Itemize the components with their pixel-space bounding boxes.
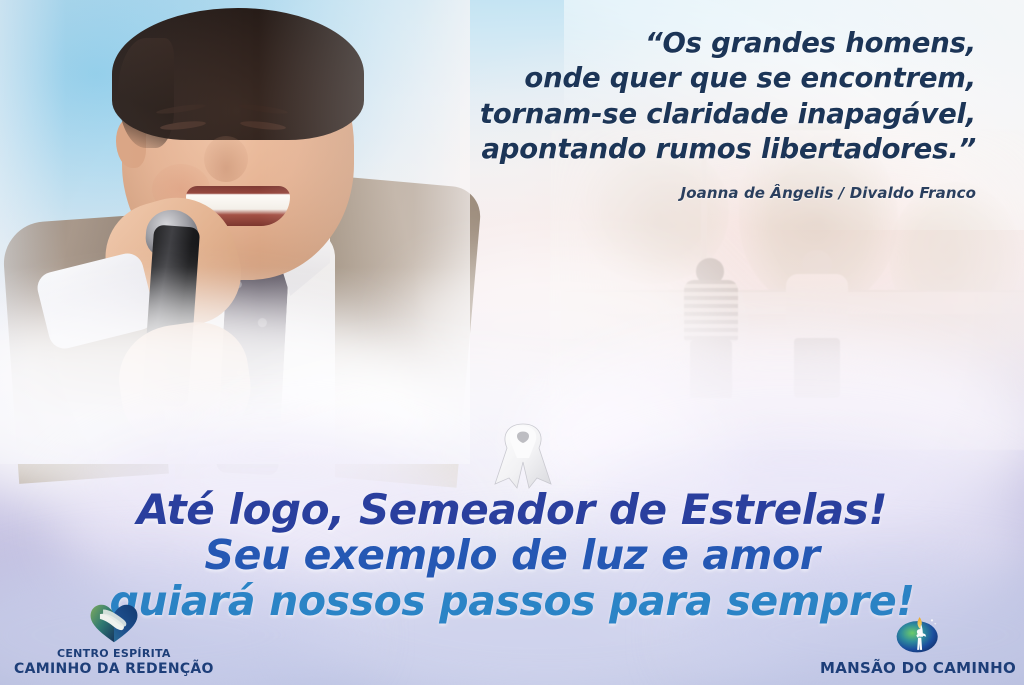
logo-centro-espirita-line2: CAMINHO DA REDENÇÃO [14,661,214,677]
logo-mansao-do-caminho[interactable]: MANSÃO DO CAMINHO [820,612,1016,677]
logo-mansao-line2: MANSÃO DO CAMINHO [820,659,1016,677]
quote-block: “Os grandes homens, onde quer que se enc… [416,26,976,202]
memorial-poster: “Os grandes homens, onde quer que se enc… [0,0,1024,685]
quote-line-2: onde quer que se encontrem, [416,61,976,96]
logo-centro-espirita-text: CENTRO ESPÍRITA CAMINHO DA REDENÇÃO [14,647,214,677]
logo-centro-espirita[interactable]: CENTRO ESPÍRITA CAMINHO DA REDENÇÃO [14,603,214,677]
white-ribbon-icon [487,410,559,490]
quote-attribution: Joanna de Ângelis / Divaldo Franco [416,184,976,202]
headline-line-2: Seu exemplo de luz e amor [0,533,1024,579]
quote-line-1: “Os grandes homens, [416,26,976,61]
headline-line-1: Até logo, Semeador de Estrelas! [0,486,1024,533]
quote-line-3: tornam-se claridade inapagável, [416,97,976,132]
logo-centro-espirita-line1: CENTRO ESPÍRITA [14,647,214,660]
globe-figure-icon [895,612,941,655]
quote-line-4: apontando rumos libertadores.” [416,132,976,167]
logo-mansao-text: MANSÃO DO CAMINHO [820,658,1016,677]
heart-hands-icon [89,603,139,644]
